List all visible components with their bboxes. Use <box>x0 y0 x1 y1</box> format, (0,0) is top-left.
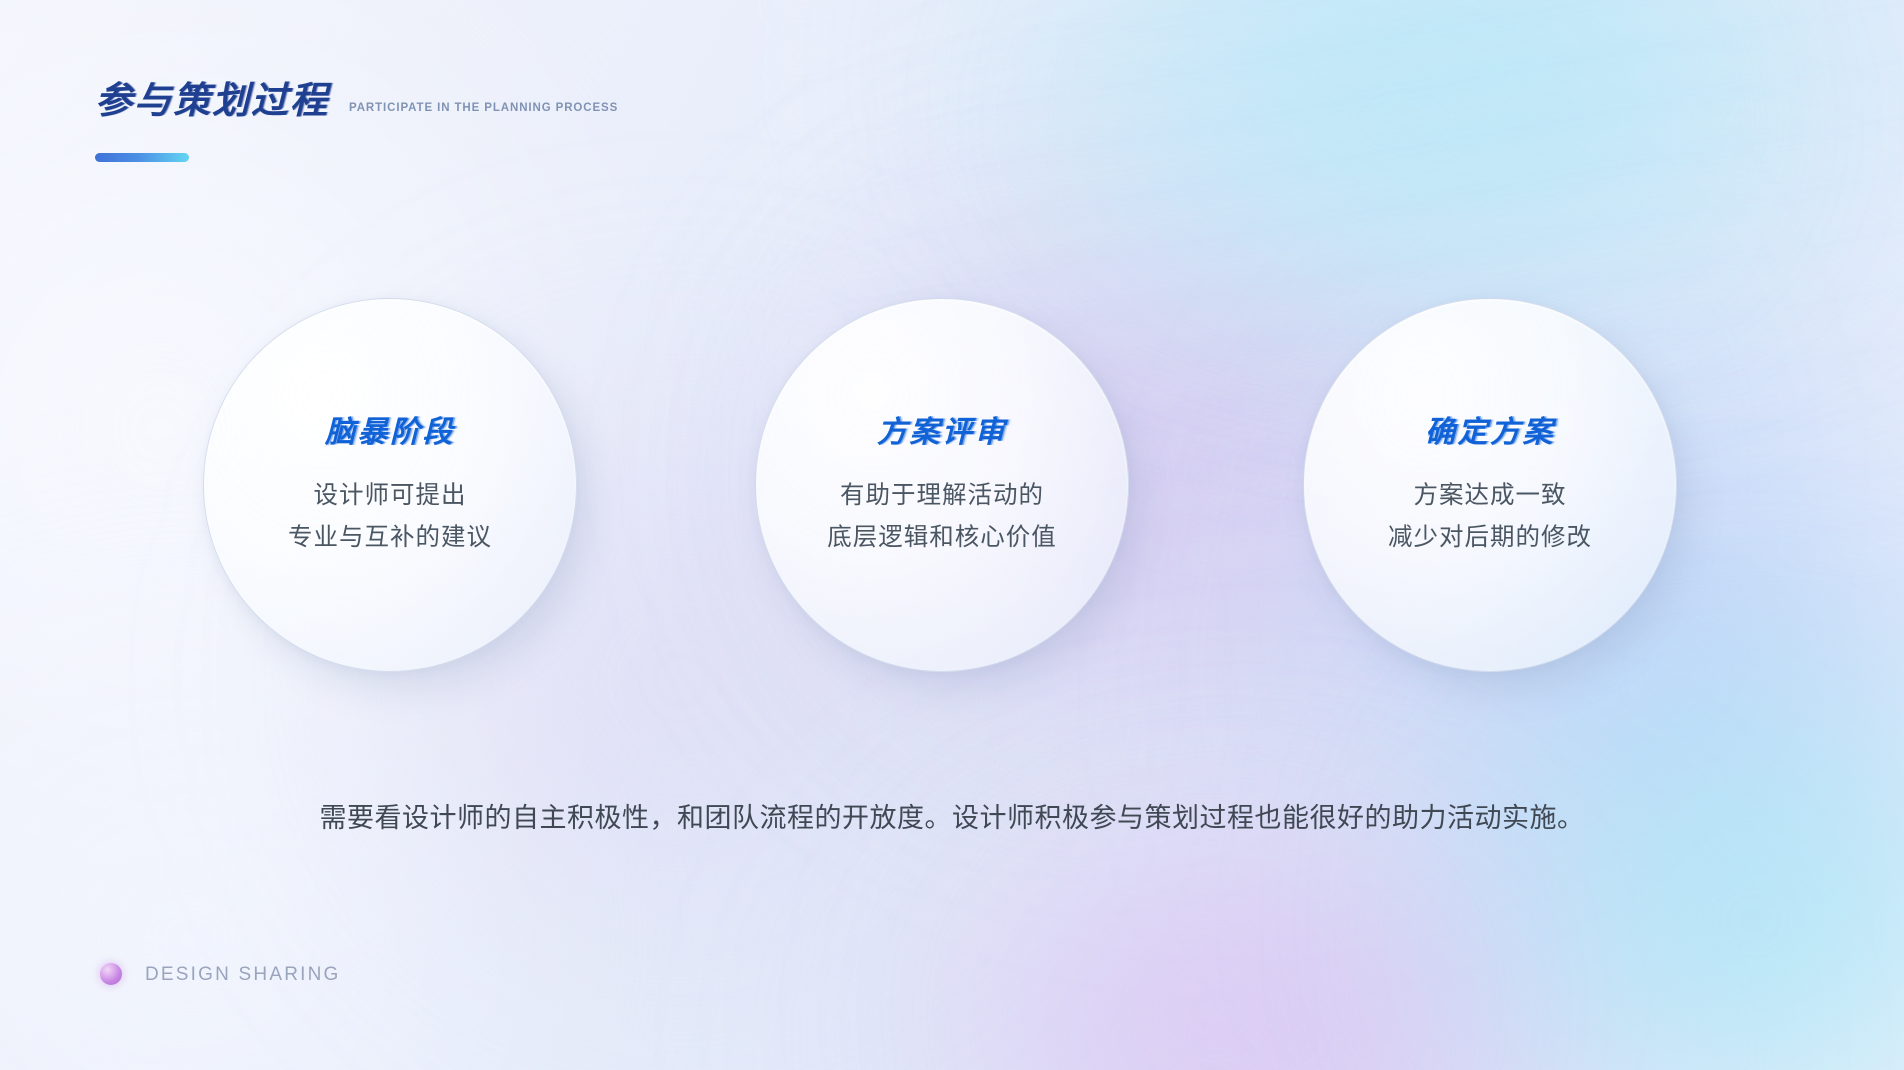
circle-card-2-line-2: 底层逻辑和核心价值 <box>827 524 1057 552</box>
circle-card-2-line-1: 有助于理解活动的 <box>840 482 1044 510</box>
footer: DESIGN SHARING <box>100 963 341 985</box>
circle-card-3[interactable]: 确定方案 方案达成一致 减少对后期的修改 <box>1303 298 1677 672</box>
circle-card-1[interactable]: 脑暴阶段 设计师可提出 专业与互补的建议 <box>203 298 577 672</box>
summary-caption: 需要看设计师的自主积极性，和团队流程的开放度。设计师积极参与策划过程也能很好的助… <box>0 800 1904 838</box>
footer-label: DESIGN SHARING <box>145 965 341 984</box>
circle-card-1-line-1: 设计师可提出 <box>314 482 467 510</box>
circle-card-2-body: 有助于理解活动的 底层逻辑和核心价值 <box>827 482 1057 552</box>
circle-card-3-line-1: 方案达成一致 <box>1414 482 1567 510</box>
circle-card-3-body: 方案达成一致 减少对后期的修改 <box>1388 482 1592 552</box>
sphere-icon <box>100 963 122 985</box>
circle-card-1-title: 脑暴阶段 <box>325 418 455 448</box>
circle-card-2-title: 方案评审 <box>877 418 1007 448</box>
circle-group: 脑暴阶段 设计师可提出 专业与互补的建议 方案评审 有助于理解活动的 底层逻辑和… <box>0 0 1904 1070</box>
circle-card-1-line-2: 专业与互补的建议 <box>288 524 492 552</box>
circle-card-3-title: 确定方案 <box>1425 418 1555 448</box>
slide-canvas: 参与策划过程 PARTICIPATE IN THE PLANNING PROCE… <box>0 0 1904 1070</box>
circle-card-1-body: 设计师可提出 专业与互补的建议 <box>288 482 492 552</box>
circle-card-2[interactable]: 方案评审 有助于理解活动的 底层逻辑和核心价值 <box>755 298 1129 672</box>
circle-card-3-line-2: 减少对后期的修改 <box>1388 524 1592 552</box>
